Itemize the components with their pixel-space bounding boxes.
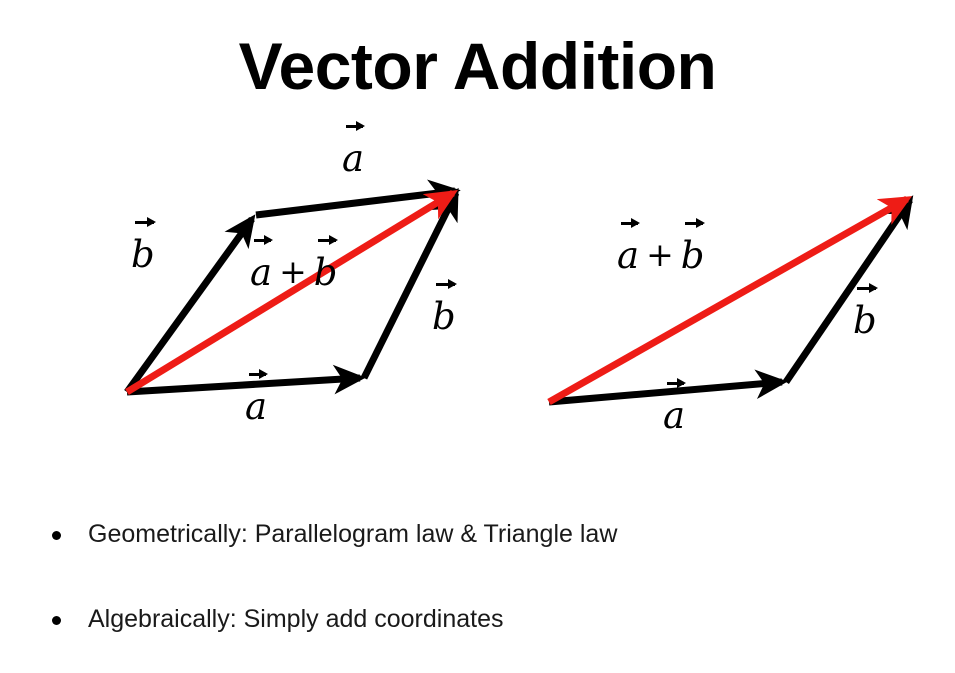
bullet-dot-icon <box>52 531 61 540</box>
label-a-triangle: a <box>663 395 685 434</box>
label-b-left: b <box>131 234 155 273</box>
slide-title: Vector Addition <box>0 22 955 110</box>
plus-sign-left: + <box>272 252 314 291</box>
vector-b-triangle <box>786 200 910 382</box>
slide-canvas: Vector Addition <box>0 0 955 673</box>
bullet-dot-icon <box>52 616 61 625</box>
list-item: Algebraically: Simply add coordinates <box>52 603 912 673</box>
label-b-triangle: b <box>853 300 877 339</box>
plus-sign-right: + <box>639 235 681 274</box>
list-item: Geometrically: Parallelogram law & Trian… <box>52 518 912 603</box>
parallelogram-diagram <box>127 191 456 392</box>
label-b-right: b <box>432 296 456 335</box>
vector-a-bottom <box>127 378 360 392</box>
bullet-text-algebraically: Algebraically: Simply add coordinates <box>88 603 504 635</box>
figures-region: b a a+b b a a+b b a <box>0 120 955 480</box>
label-sum-parallelogram: a+b <box>250 252 337 291</box>
vector-diagrams-svg <box>0 120 955 480</box>
label-a-bottom: a <box>245 386 267 425</box>
label-a-top: a <box>342 138 364 177</box>
bullet-text-geometrically: Geometrically: Parallelogram law & Trian… <box>88 518 617 550</box>
label-sum-triangle: a+b <box>617 235 704 274</box>
bullet-list: Geometrically: Parallelogram law & Trian… <box>52 518 912 673</box>
